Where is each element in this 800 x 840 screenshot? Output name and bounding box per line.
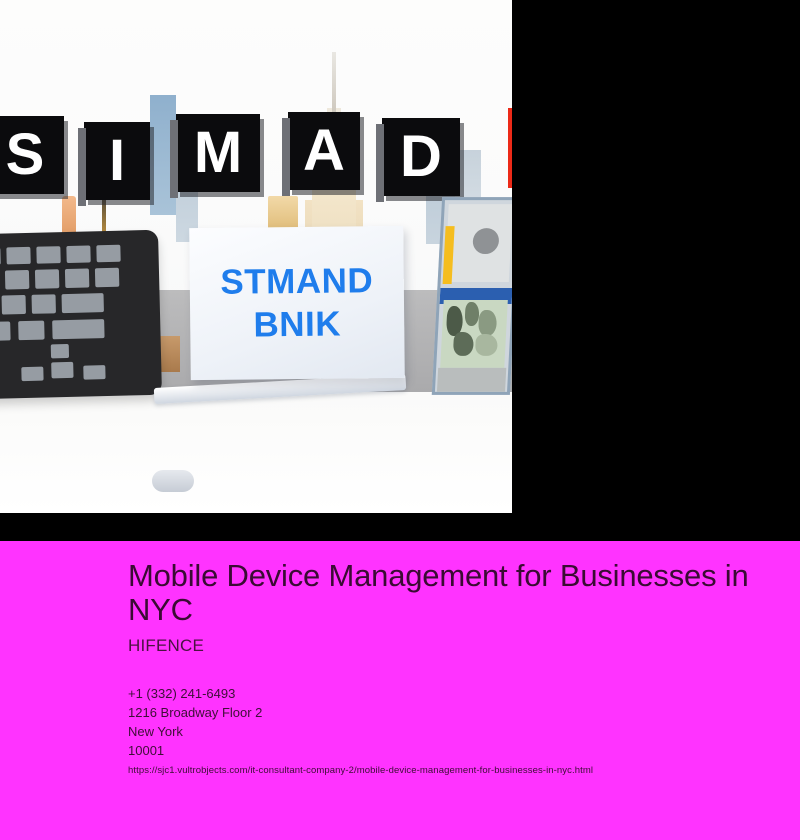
- letter-block: D: [382, 118, 460, 196]
- info-content: Mobile Device Management for Businesses …: [128, 559, 760, 778]
- letter-block: A: [288, 112, 360, 190]
- site-url[interactable]: https://sjc1.vultrobjects.com/it-consult…: [128, 764, 760, 778]
- letter-block: I: [84, 122, 150, 200]
- mouse-icon: [152, 470, 194, 492]
- keyboard-icon: [0, 230, 162, 399]
- tablet-icon: [432, 197, 512, 395]
- skyscraper-spire-icon: [332, 52, 336, 112]
- sign-line-1: STMAND: [220, 259, 373, 304]
- hero-banner: S I M A D STMAND BNIK: [0, 0, 800, 541]
- letter-blocks-group: S I M A D: [0, 112, 512, 202]
- contact-address-line1: 1216 Broadway Floor 2: [128, 703, 760, 722]
- desk-surface-white: [0, 392, 512, 513]
- contact-phone[interactable]: +1 (332) 241-6493: [128, 684, 760, 703]
- letter-block: S: [0, 116, 64, 194]
- contact-zip: 10001: [128, 741, 760, 760]
- contact-city: New York: [128, 722, 760, 741]
- hero-image: S I M A D STMAND BNIK: [0, 0, 512, 513]
- sign-line-2: BNIK: [253, 303, 341, 347]
- red-accent-strip: [508, 108, 512, 188]
- company-name: HIFENCE: [128, 636, 760, 656]
- contact-list: +1 (332) 241-6493 1216 Broadway Floor 2 …: [128, 684, 760, 760]
- page-title: Mobile Device Management for Businesses …: [128, 559, 760, 627]
- letter-block: M: [176, 114, 260, 192]
- sign-card: STMAND BNIK: [189, 226, 405, 380]
- plant-icon: [440, 300, 508, 368]
- info-panel: Mobile Device Management for Businesses …: [0, 541, 800, 840]
- tablet-stand: [437, 368, 506, 392]
